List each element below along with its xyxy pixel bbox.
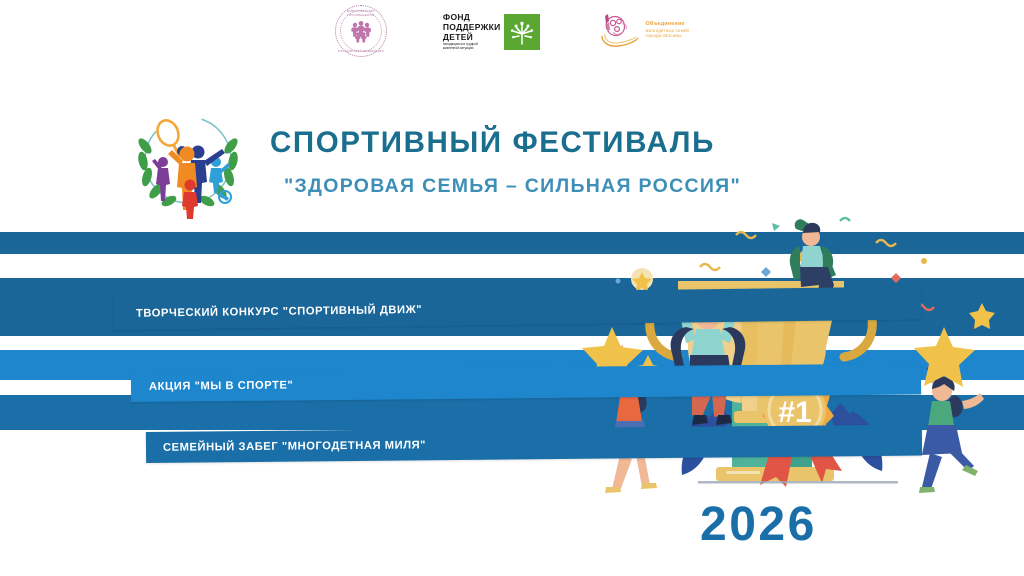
- emblem-glyph: [132, 106, 244, 214]
- program-banners: ТВОРЧЕСКИЙ КОНКУРС "СПОРТИВНЫЙ ДВИЖ" АКЦ…: [0, 280, 1024, 500]
- green-tree-icon: [504, 14, 540, 50]
- ministry-seal-icon: МИНИСТЕРСТВО ПРОСВЕЩЕНИЯ: [335, 5, 387, 57]
- partner-logo-moscow-families: Объединение многодетных семей города Мос…: [596, 10, 690, 52]
- banner-label-2: АКЦИЯ "МЫ В СПОРТЕ": [149, 379, 293, 392]
- moscow-line-3: города Москвы: [646, 34, 690, 41]
- partner-logo-fond-podderzhki-detey: ФОНД ПОДДЕРЖКИ ДЕТЕЙ находящихся в трудн…: [443, 12, 540, 50]
- banner-tvorcheskiy-konkurs[interactable]: ТВОРЧЕСКИЙ КОНКУРС "СПОРТИВНЫЙ ДВИЖ": [113, 286, 921, 330]
- seal-ring-text-top: МИНИСТЕРСТВО ПРОСВЕЩЕНИЯ: [336, 9, 386, 17]
- family-hands-glyph: [596, 10, 642, 52]
- seal-emblem-mark: [348, 19, 374, 43]
- family-hands-icon: [596, 10, 642, 52]
- partner-logo-ministry-seal: МИНИСТЕРСТВО ПРОСВЕЩЕНИЯ: [335, 5, 387, 57]
- title-block: СПОРТИВНЫЙ ФЕСТИВАЛЬ "ЗДОРОВАЯ СЕМЬЯ – С…: [270, 122, 741, 199]
- fond-subtext: находящихся в трудной жизненной ситуации: [443, 42, 489, 50]
- banner-akciya-my-v-sporte[interactable]: АКЦИЯ "МЫ В СПОРТЕ": [131, 363, 921, 402]
- page-subtitle: "ЗДОРОВАЯ СЕМЬЯ – СИЛЬНАЯ РОССИЯ": [284, 173, 741, 199]
- festival-poster: МИНИСТЕРСТВО ПРОСВЕЩЕНИЯ: [0, 0, 1024, 576]
- seal-ring-text-bottom: РОССИЙСКОЙ ФЕДЕРАЦИИ: [336, 49, 386, 53]
- fond-line-2: ПОДДЕРЖКИ: [443, 22, 501, 32]
- partner-logos-row: МИНИСТЕРСТВО ПРОСВЕЩЕНИЯ: [0, 4, 1024, 58]
- moscow-families-wordmark: Объединение многодетных семей города Мос…: [646, 21, 690, 41]
- moscow-line-1: Объединение: [646, 21, 690, 28]
- page-title: СПОРТИВНЫЙ ФЕСТИВАЛЬ: [270, 126, 741, 160]
- masthead: СПОРТИВНЫЙ ФЕСТИВАЛЬ "ЗДОРОВАЯ СЕМЬЯ – С…: [132, 100, 892, 220]
- seal-family-glyph: [348, 19, 374, 43]
- year-label: 2026: [700, 500, 817, 550]
- fond-line-1: ФОНД: [443, 12, 501, 22]
- banner-label-3: СЕМЕЙНЫЙ ЗАБЕГ "МНОГОДЕТНАЯ МИЛЯ": [163, 439, 426, 454]
- banner-semeynyy-zabeg[interactable]: СЕМЕЙНЫЙ ЗАБЕГ "МНОГОДЕТНАЯ МИЛЯ": [146, 425, 922, 463]
- fond-line-3: ДЕТЕЙ: [443, 32, 501, 42]
- sport-family-emblem-icon: [132, 106, 244, 214]
- banner-label-1: ТВОРЧЕСКИЙ КОНКУРС "СПОРТИВНЫЙ ДВИЖ": [136, 303, 422, 319]
- tree-glyph: [508, 18, 536, 46]
- fond-wordmark: ФОНД ПОДДЕРЖКИ ДЕТЕЙ находящихся в трудн…: [443, 12, 501, 50]
